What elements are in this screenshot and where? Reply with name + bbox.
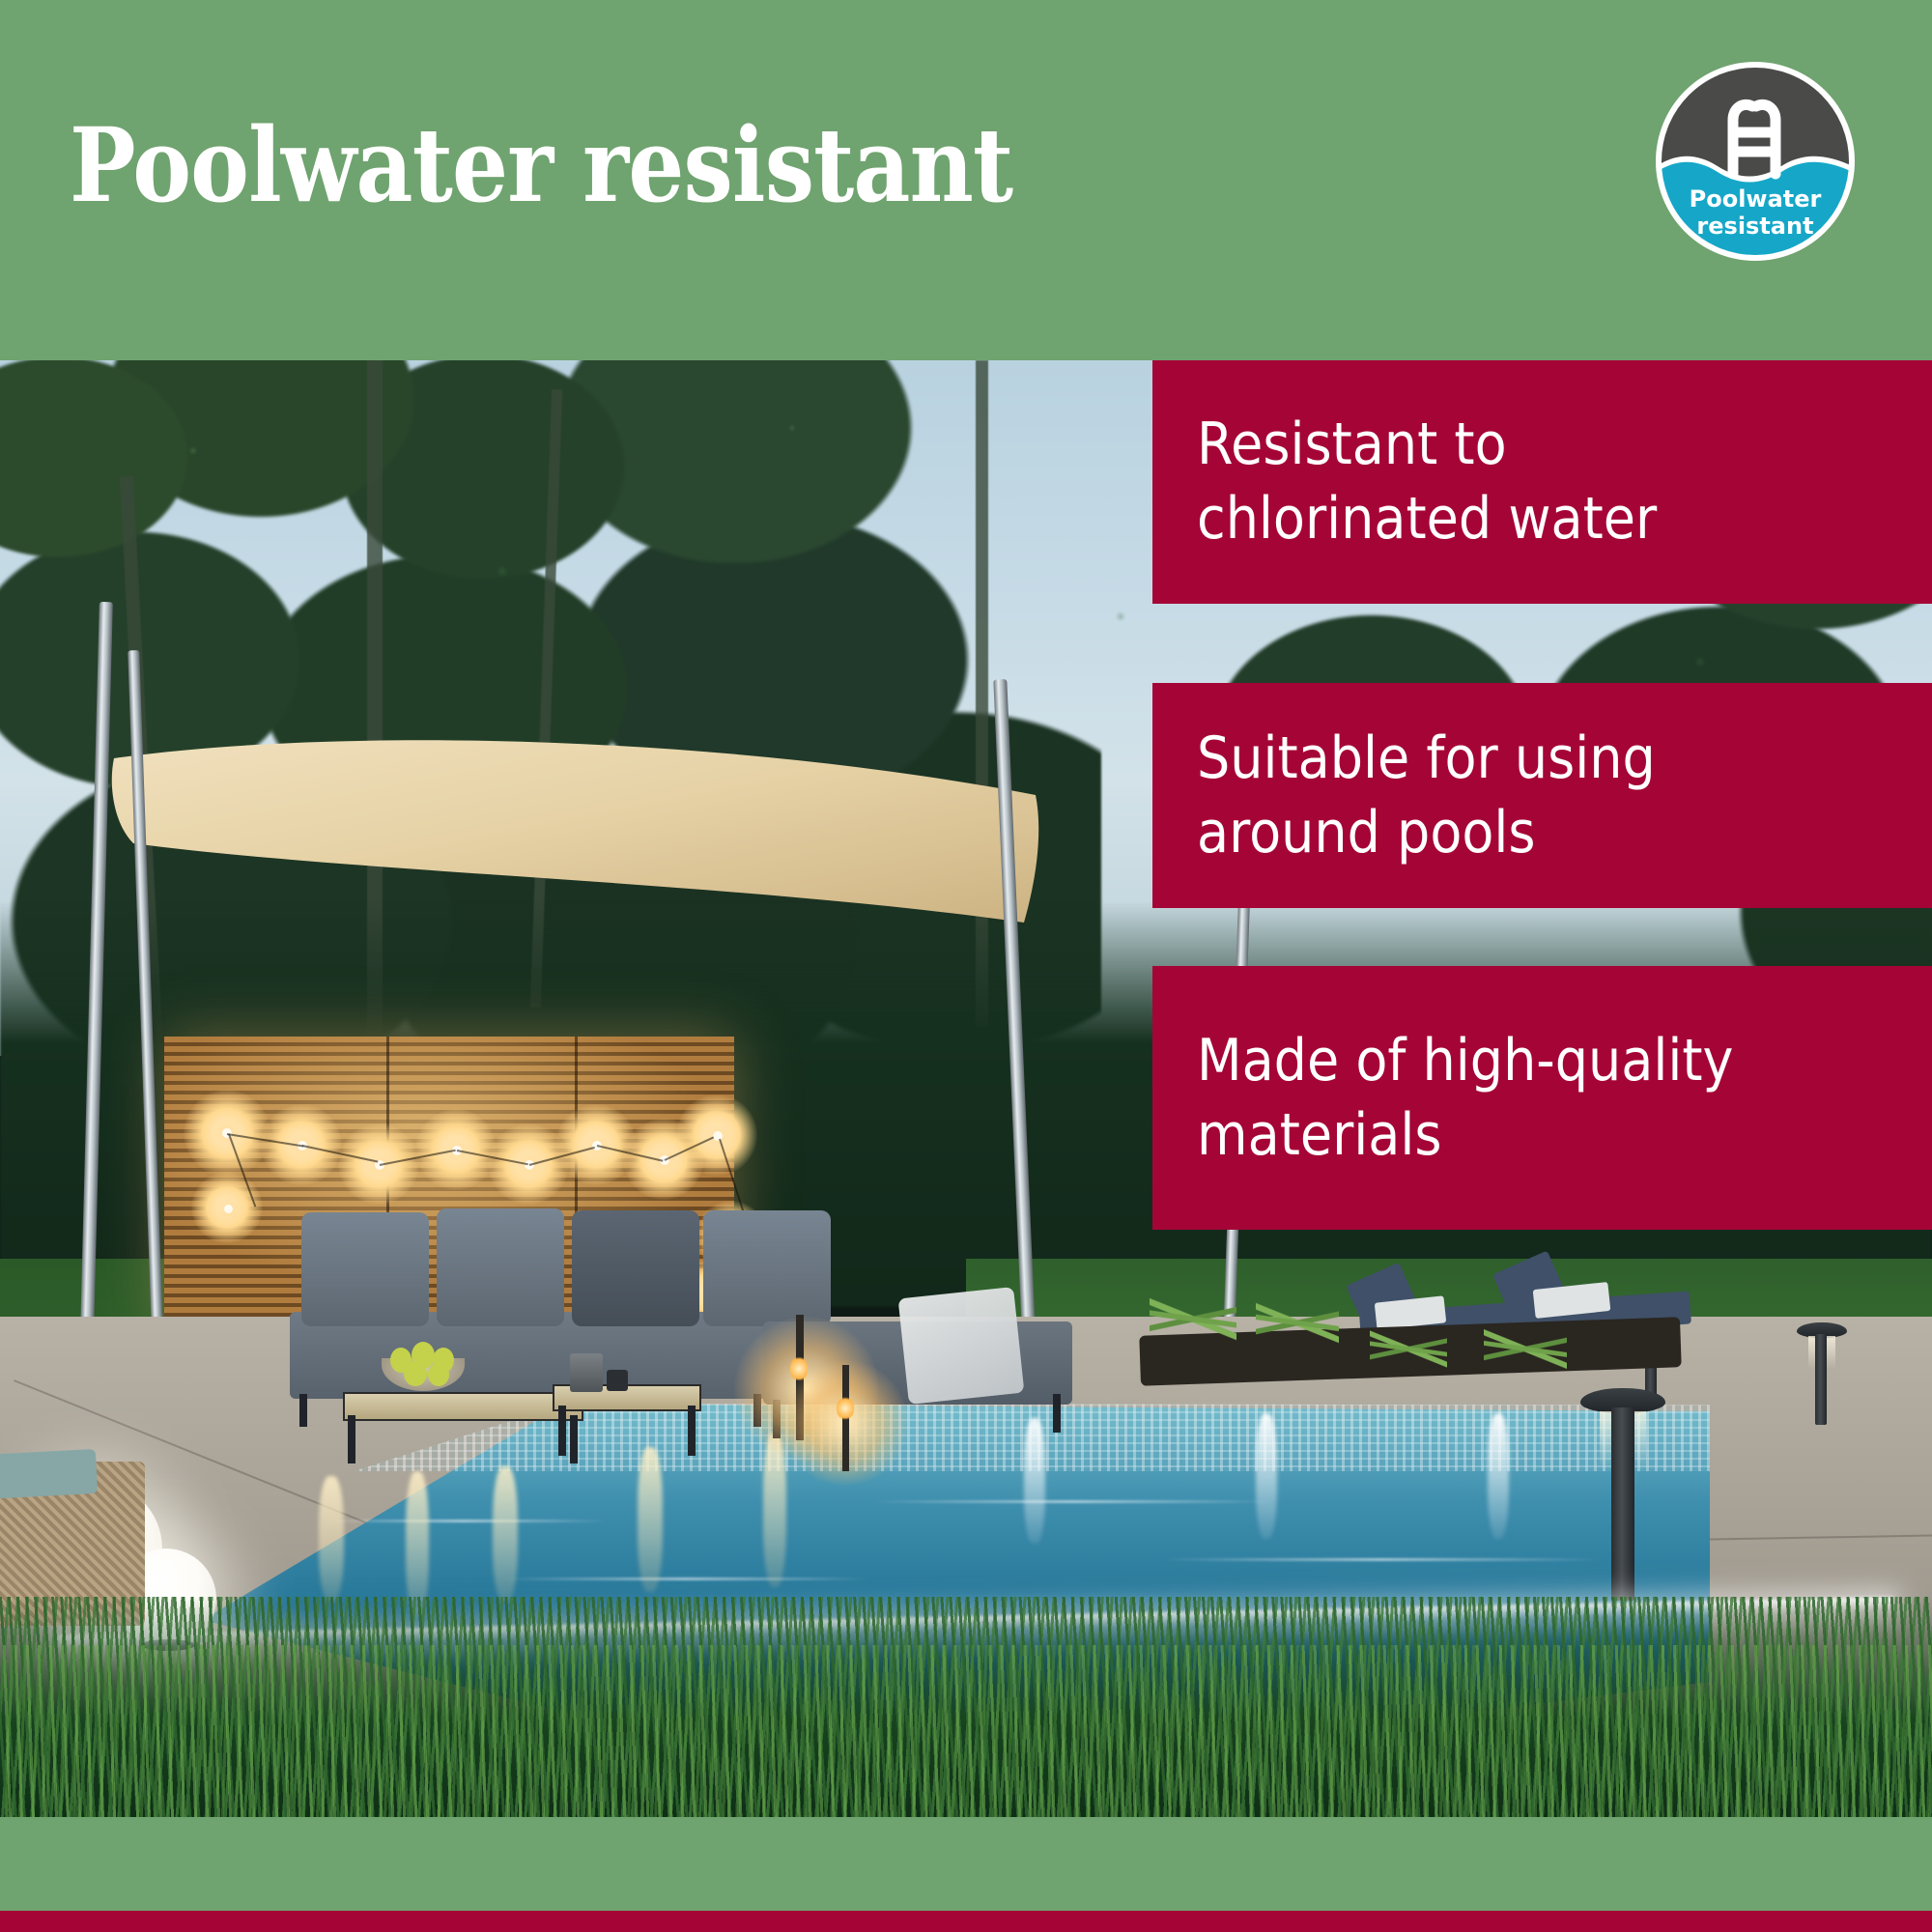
throw-blanket (898, 1287, 1025, 1405)
light-reflection (493, 1466, 518, 1602)
bollard-light-post (1815, 1334, 1827, 1425)
daybed-leg (1053, 1394, 1061, 1433)
pear (404, 1361, 427, 1386)
sofa-leg (299, 1394, 307, 1427)
ornamental-grass (1370, 1317, 1447, 1380)
foreground-grass-highlights (0, 1645, 1932, 1817)
light-reflection (1256, 1413, 1277, 1539)
poolwater-resistant-badge: Poolwater resistant (1654, 60, 1857, 263)
water-ripple (1159, 1558, 1604, 1561)
ornamental-grass (1150, 1280, 1236, 1357)
table-leg (570, 1415, 578, 1463)
light-reflection (638, 1447, 663, 1592)
cup (607, 1370, 628, 1391)
page-title: Poolwater resistant (70, 114, 1012, 216)
string-light-bulb (224, 1205, 233, 1213)
coffee-table (343, 1392, 583, 1421)
ice-bucket (570, 1353, 603, 1392)
callout-text-2: Suitable for using around pools (1197, 722, 1656, 870)
callout-box-1: Resistant to chlorinated water (1152, 360, 1932, 604)
callout-text-1: Resistant to chlorinated water (1197, 408, 1657, 556)
ornamental-grass (1484, 1315, 1567, 1382)
sofa-back-cushion (437, 1208, 564, 1326)
light-reflection (1024, 1418, 1045, 1544)
pear (428, 1363, 449, 1386)
water-ripple (869, 1500, 1275, 1503)
header-band: Poolwater resistant (0, 0, 1932, 360)
water-ripple (502, 1577, 869, 1580)
table-leg (558, 1406, 566, 1456)
table-leg (348, 1415, 355, 1463)
light-reflection (319, 1476, 344, 1602)
shade-sail (58, 640, 1140, 1046)
callout-text-3: Made of high-quality materials (1197, 1024, 1734, 1173)
light-reflection (406, 1471, 429, 1616)
wicker-sofa-cushion (0, 1449, 98, 1499)
bollard-light-post (1611, 1407, 1634, 1601)
poster: Poolwater resistant Poolwater (0, 0, 1932, 1932)
badge-line1: Poolwater (1690, 185, 1822, 213)
table-leg (688, 1406, 696, 1456)
sofa-back-cushion (301, 1212, 429, 1326)
badge-line2: resistant (1696, 213, 1813, 240)
water-ripple (319, 1520, 609, 1522)
light-reflection (1488, 1413, 1509, 1539)
callout-box-2: Suitable for using around pools (1152, 683, 1932, 908)
sofa-back-cushion (703, 1210, 831, 1326)
lantern-flame (837, 1396, 854, 1421)
footer-red-band (0, 1911, 1932, 1932)
ornamental-grass (1256, 1286, 1339, 1359)
footer-green-band (0, 1817, 1932, 1911)
sofa-back-cushion (572, 1210, 699, 1326)
callout-box-3: Made of high-quality materials (1152, 966, 1932, 1230)
